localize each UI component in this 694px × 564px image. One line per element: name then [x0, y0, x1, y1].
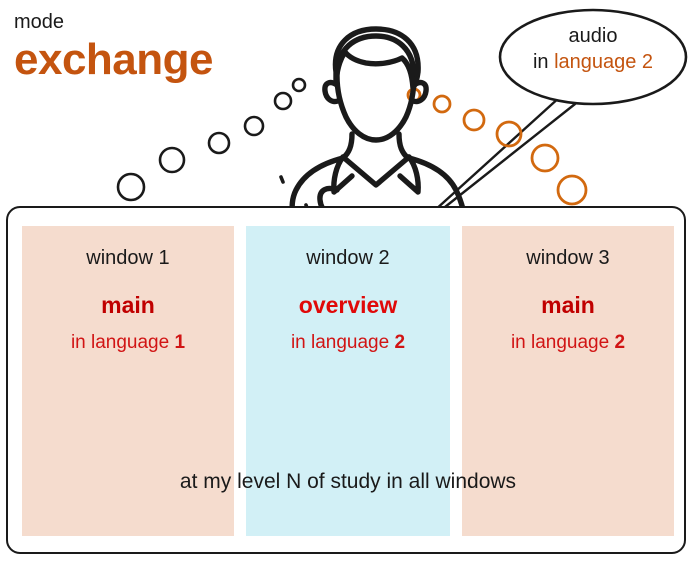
speech-bubble-icon [500, 10, 686, 104]
window-2-language: in language 2 [246, 333, 450, 352]
window-3-title: window 3 [462, 248, 674, 268]
window-3-language-number: 2 [614, 332, 625, 353]
window-2-title: window 2 [246, 248, 450, 268]
window-1-language-prefix: in language [71, 332, 175, 353]
speech-bubble-text: audio in language 2 [500, 24, 686, 75]
windows-panel: window 1 main in language 1 window 2 ove… [6, 206, 686, 554]
window-1-title: window 1 [22, 248, 234, 268]
diagram-canvas: mode exchange [0, 0, 694, 564]
window-1-language-number: 1 [174, 332, 185, 353]
sound-circles-black-icon [118, 79, 305, 200]
bubble-line-audio: audio [500, 24, 686, 50]
mode-value: exchange [14, 38, 213, 82]
window-2-language-prefix: in language [291, 332, 395, 353]
sound-circles-orange-icon [408, 89, 586, 204]
bubble-line-highlight: language 2 [554, 51, 653, 73]
bubble-line-prefix: in [533, 51, 554, 73]
window-column-1[interactable]: window 1 main in language 1 [22, 226, 234, 536]
window-column-3[interactable]: window 3 main in language 2 [462, 226, 674, 536]
mode-label: mode [14, 12, 64, 32]
window-3-language-prefix: in language [511, 332, 615, 353]
window-column-2[interactable]: window 2 overview in language 2 [246, 226, 450, 536]
window-1-language: in language 1 [22, 333, 234, 352]
window-3-language: in language 2 [462, 333, 674, 352]
bubble-line-language: in language 2 [500, 50, 686, 76]
window-2-kind: overview [246, 294, 450, 317]
window-3-kind: main [462, 294, 674, 317]
window-2-language-number: 2 [394, 332, 405, 353]
window-1-kind: main [22, 294, 234, 317]
windows-row: window 1 main in language 1 window 2 ove… [22, 226, 674, 536]
